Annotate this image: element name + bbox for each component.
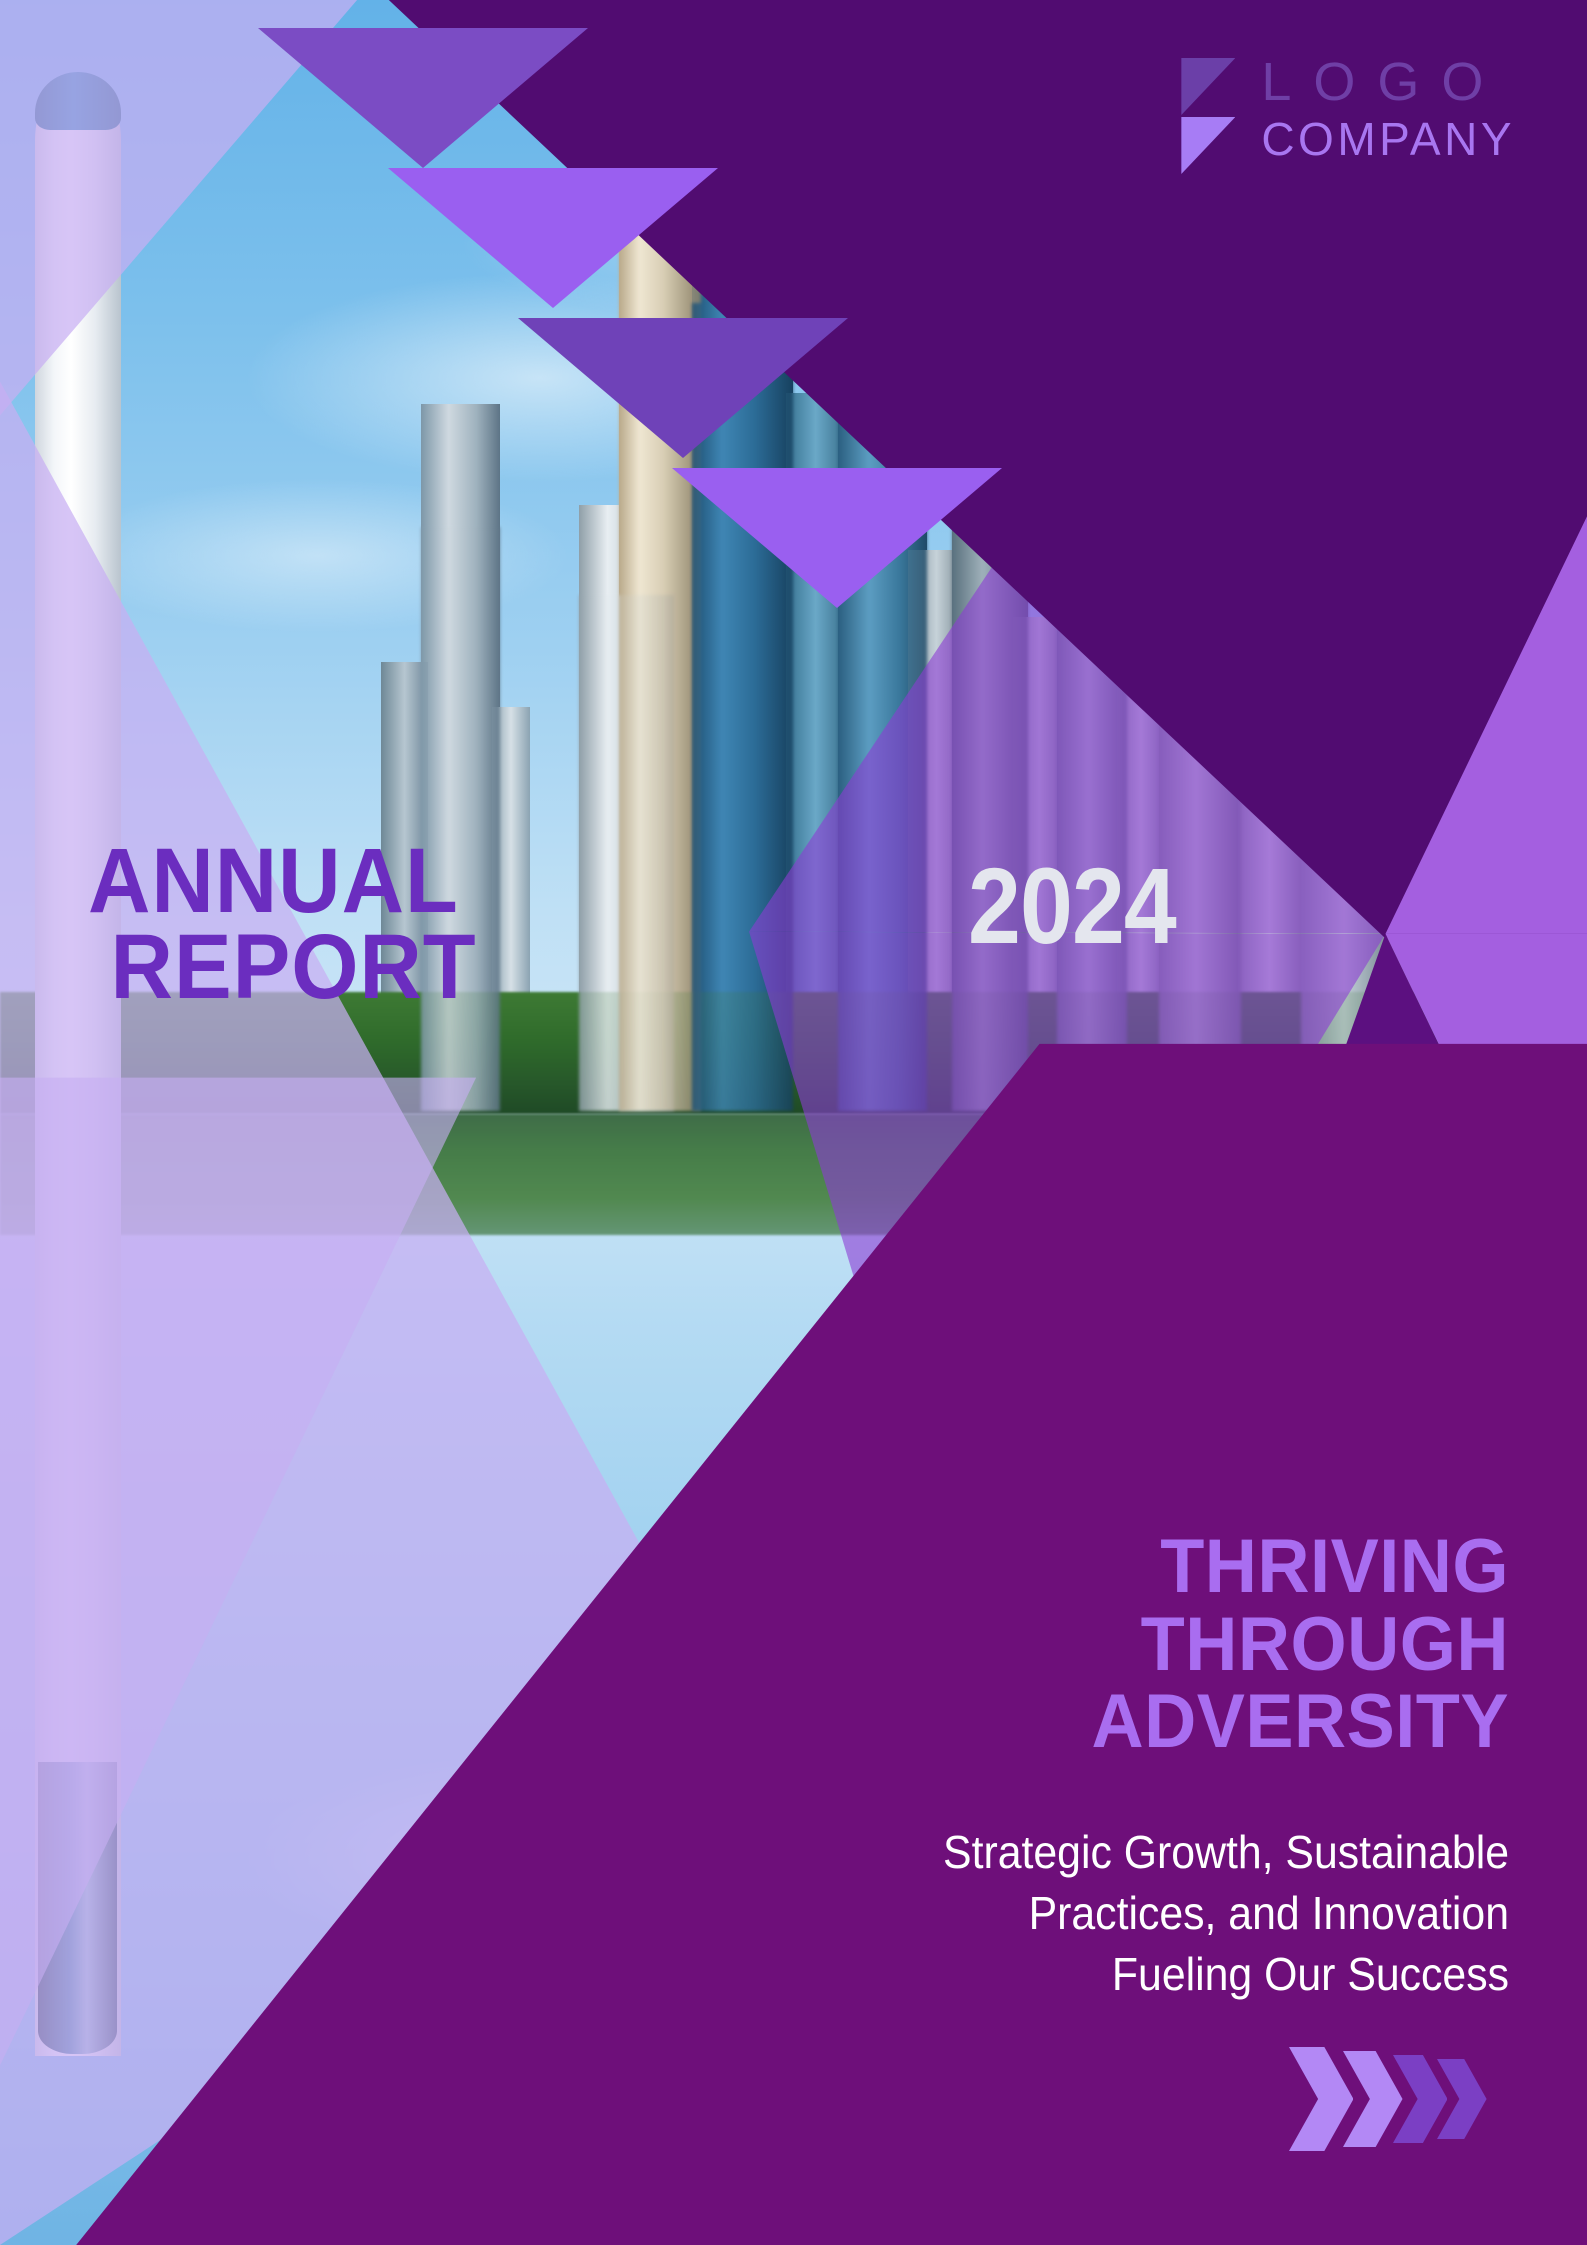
report-subhead: Strategic Growth, Sustainable Practices,… <box>858 1822 1509 2006</box>
chevron-group <box>1299 2039 1487 2159</box>
building-reflection <box>421 528 500 1112</box>
headline-line-2: THROUGH <box>901 1606 1509 1684</box>
report-title-line-2: REPORT <box>88 924 671 1010</box>
logo-text: LOGO COMPANY <box>1261 52 1515 166</box>
logo-mark-bottom-triangle <box>1181 117 1235 174</box>
chevron-4-icon <box>1437 2059 1487 2139</box>
headline-line-3: ADVERSITY <box>901 1683 1509 1761</box>
report-headline: THRIVING THROUGH ADVERSITY <box>869 1528 1509 1761</box>
decor-triangle-3 <box>518 318 848 458</box>
report-title: ANNUAL REPORT <box>88 838 708 1011</box>
report-title-line-1: ANNUAL <box>88 838 671 924</box>
decor-triangle-2 <box>388 168 718 308</box>
decor-triangle-1 <box>258 28 588 168</box>
logo-mark-icon <box>1181 58 1235 174</box>
logo[interactable]: LOGO COMPANY <box>1181 52 1515 174</box>
subhead-line-3: Fueling Our Success <box>858 1944 1509 2005</box>
report-cover: LOGO COMPANY ANNUAL REPORT 2024 THRIVING… <box>0 0 1587 2245</box>
report-year: 2024 <box>968 852 1176 960</box>
logo-mark-top-triangle <box>1181 58 1235 115</box>
decor-triangle-4 <box>672 468 1002 608</box>
subhead-line-1: Strategic Growth, Sustainable <box>858 1822 1509 1883</box>
headline-line-1: THRIVING <box>901 1528 1509 1606</box>
logo-subword: COMPANY <box>1261 114 1515 166</box>
subhead-line-2: Practices, and Innovation <box>858 1883 1509 1944</box>
logo-word: LOGO <box>1261 52 1505 112</box>
